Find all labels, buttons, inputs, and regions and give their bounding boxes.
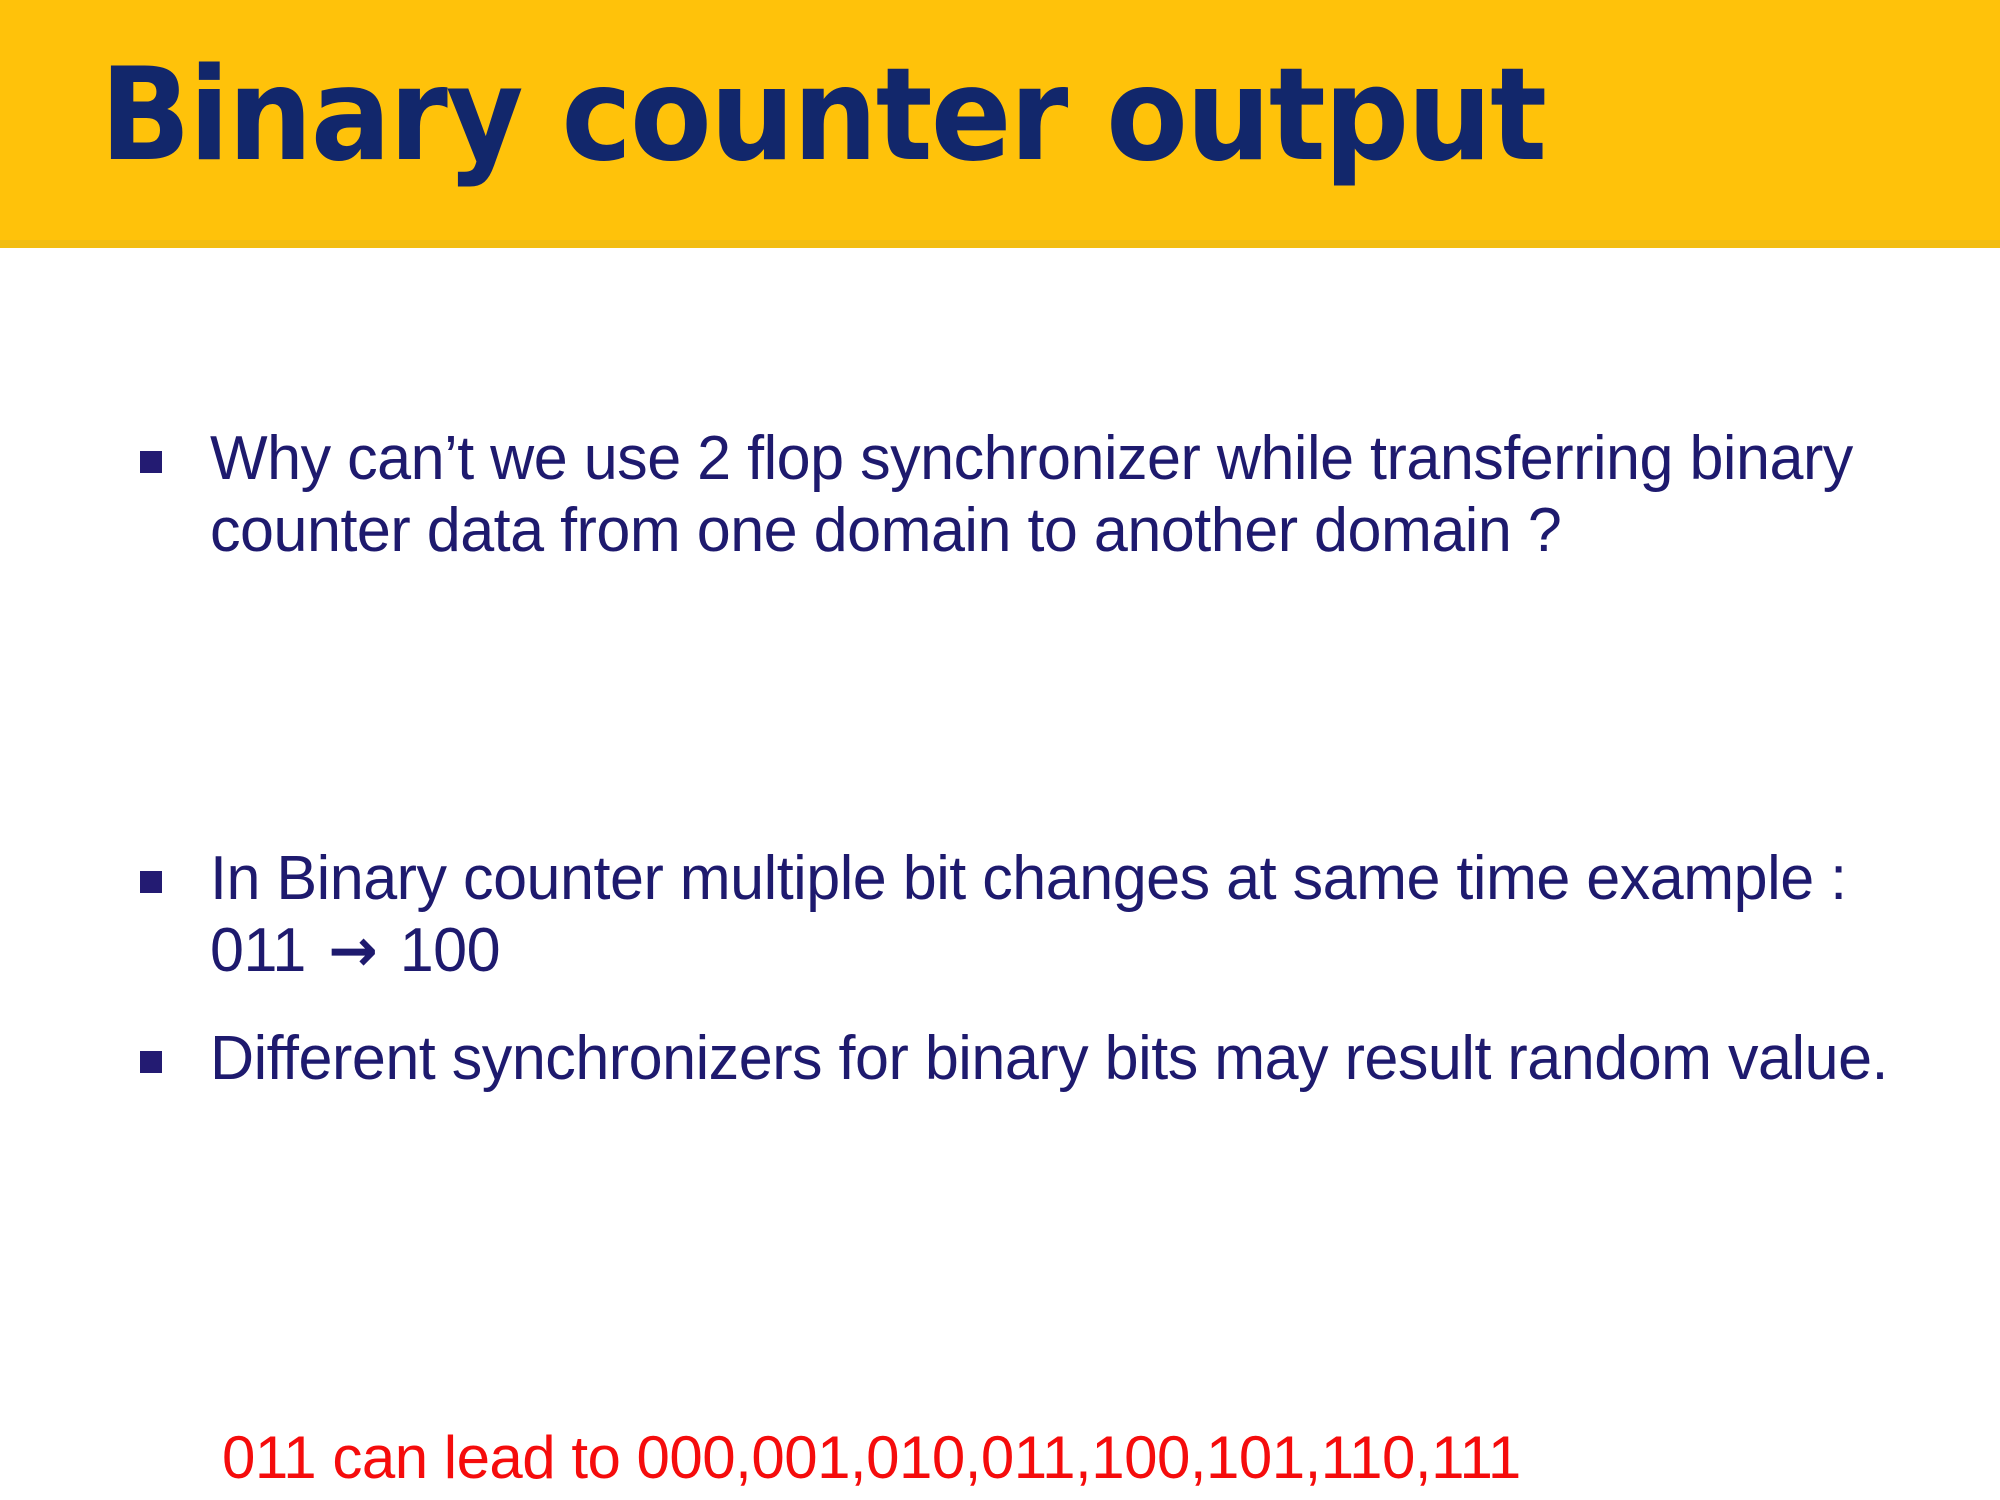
bullet-item-2-text-after-arrow: 100: [383, 916, 500, 985]
highlight-text: 011 can lead to 000,001,010,011,100,101,…: [222, 1423, 1521, 1493]
slide: Binary counter output Why can’t we use 2…: [0, 0, 2000, 1500]
right-arrow-icon: →: [322, 917, 383, 987]
bullet-item-2: In Binary counter multiple bit changes a…: [140, 843, 1920, 987]
slide-body: Why can’t we use 2 flop synchronizer whi…: [0, 248, 2000, 1500]
bullet-item-2-text: In Binary counter multiple bit changes a…: [210, 843, 1894, 987]
bullet-item-1: Why can’t we use 2 flop synchronizer whi…: [140, 423, 1920, 567]
square-bullet-icon: [140, 871, 162, 893]
bullet-item-1-text: Why can’t we use 2 flop synchronizer whi…: [210, 423, 1894, 567]
square-bullet-icon: [140, 451, 162, 473]
bullet-item-3-text: Different synchronizers for binary bits …: [210, 1023, 1894, 1095]
square-bullet-icon: [140, 1051, 162, 1073]
bullet-item-3: Different synchronizers for binary bits …: [140, 1023, 1920, 1095]
title-banner-bottom-edge: [0, 240, 2000, 248]
page-title: Binary counter output: [100, 52, 1545, 180]
